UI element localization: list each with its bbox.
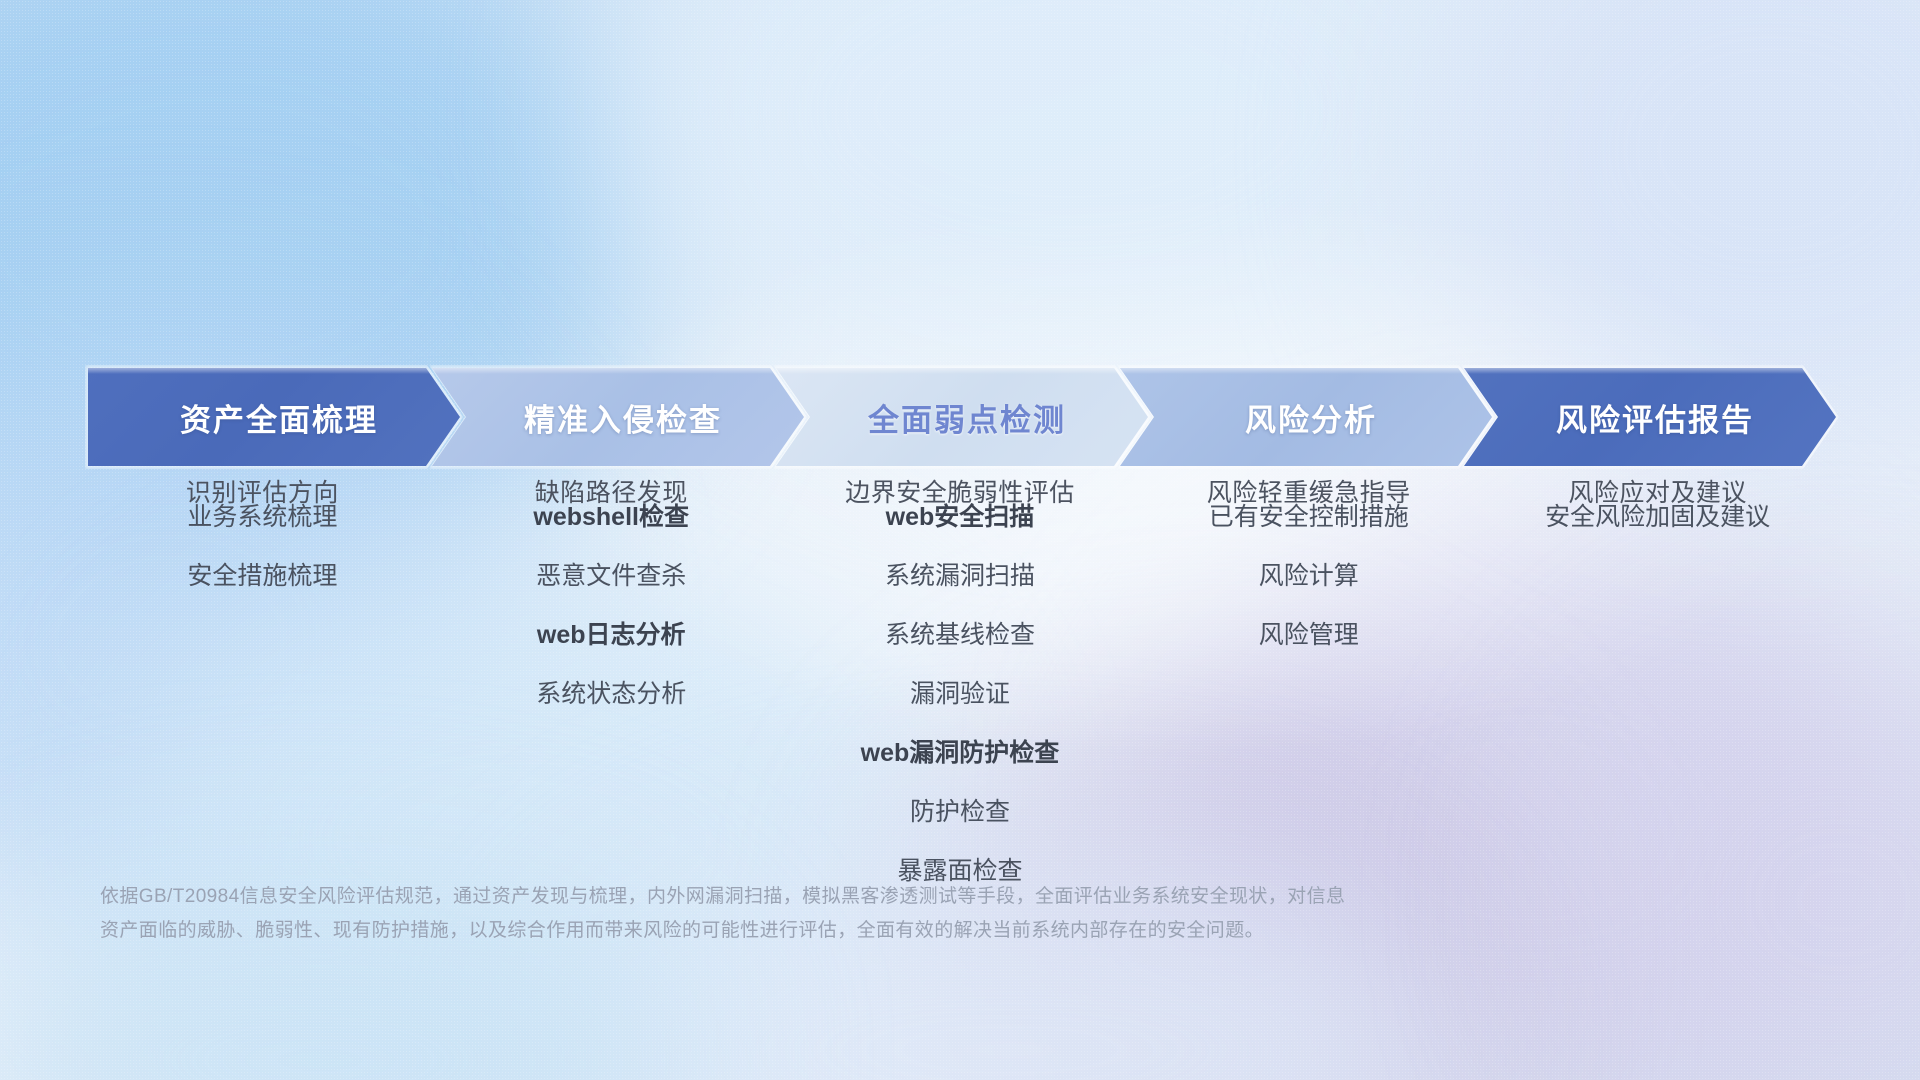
step-title: 资产全面梳理 bbox=[170, 395, 378, 440]
bottom-label: web安全扫描 bbox=[886, 505, 1035, 530]
bottom-label: web日志分析 bbox=[537, 623, 686, 648]
footer-line-2: 资产面临的威胁、脆弱性、现有防护措施，以及综合作用而带来风险的可能性进行评估，全… bbox=[100, 914, 1660, 948]
bottom-label: 风险管理 bbox=[1259, 623, 1359, 648]
bottom-label: 漏洞验证 bbox=[910, 682, 1010, 707]
bottom-label: 系统漏洞扫描 bbox=[885, 564, 1035, 589]
bottom-label: web漏洞防护检查 bbox=[861, 741, 1060, 766]
bottom-label-group-1: 业务系统梳理安全措施梳理 bbox=[88, 505, 437, 918]
bottom-label: webshell检查 bbox=[533, 505, 689, 530]
bottom-label: 系统基线检查 bbox=[885, 623, 1035, 648]
step-title: 风险评估报告 bbox=[1546, 395, 1754, 440]
step-title: 精准入侵检查 bbox=[514, 395, 722, 440]
bottom-label-group-2: webshell检查恶意文件查杀web日志分析系统状态分析 bbox=[437, 505, 786, 918]
bottom-label-row: 业务系统梳理安全措施梳理webshell检查恶意文件查杀web日志分析系统状态分… bbox=[88, 505, 1832, 918]
bottom-label-text: web安全扫描 bbox=[886, 503, 1035, 531]
process-step-4[interactable]: 风险分析 bbox=[1120, 368, 1492, 466]
bottom-label-text: web漏洞防护检查 bbox=[861, 739, 1060, 767]
bottom-label-text: webshell检查 bbox=[533, 503, 689, 531]
bottom-label: 安全措施梳理 bbox=[187, 564, 337, 589]
bottom-label: 系统状态分析 bbox=[536, 682, 686, 707]
process-step-5[interactable]: 风险评估报告 bbox=[1464, 368, 1836, 466]
process-chevron-band: 资产全面梳理精准入侵检查全面弱点检测风险分析风险评估报告 bbox=[88, 368, 1836, 466]
bottom-label: 已有安全控制措施 bbox=[1209, 505, 1409, 530]
bottom-label-group-3: web安全扫描系统漏洞扫描系统基线检查漏洞验证web漏洞防护检查防护检查暴露面检… bbox=[786, 505, 1135, 918]
step-title: 风险分析 bbox=[1235, 395, 1377, 440]
step-title: 全面弱点检测 bbox=[858, 395, 1066, 440]
bottom-label: 风险计算 bbox=[1259, 564, 1359, 589]
bottom-label: 防护检查 bbox=[910, 800, 1010, 825]
bottom-label: 安全风险加固及建议 bbox=[1545, 505, 1770, 530]
bottom-label-group-4: 已有安全控制措施风险计算风险管理 bbox=[1134, 505, 1483, 918]
footer-line-1: 依据GB/T20984信息安全风险评估规范，通过资产发现与梳理，内外网漏洞扫描，… bbox=[100, 880, 1660, 914]
bottom-label-text: web日志分析 bbox=[537, 621, 686, 649]
bottom-label: 业务系统梳理 bbox=[187, 505, 337, 530]
bottom-label: 恶意文件查杀 bbox=[536, 564, 686, 589]
bottom-label-group-5: 安全风险加固及建议 bbox=[1483, 505, 1832, 918]
process-step-2[interactable]: 精准入侵检查 bbox=[432, 368, 804, 466]
diagram-stage: 理清有效资产识别评估方向异常状态检查缺陷路径发现业务安全脆弱性评估边界安全脆弱性… bbox=[0, 0, 1920, 1080]
process-step-3[interactable]: 全面弱点检测 bbox=[776, 368, 1148, 466]
process-step-1[interactable]: 资产全面梳理 bbox=[88, 368, 460, 466]
footer-description: 依据GB/T20984信息安全风险评估规范，通过资产发现与梳理，内外网漏洞扫描，… bbox=[100, 880, 1660, 948]
